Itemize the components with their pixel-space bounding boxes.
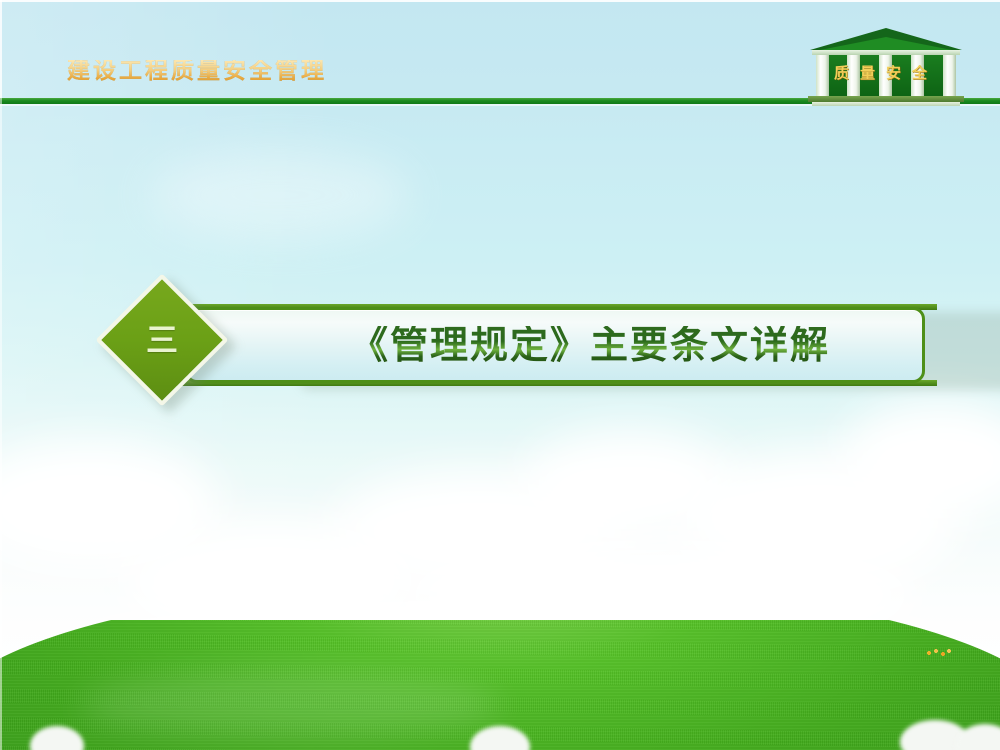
logo-text: 质量安全 <box>816 66 956 81</box>
logo-base-lower <box>812 102 960 106</box>
cloud-shape <box>150 150 410 240</box>
grass-hill <box>0 620 1000 750</box>
section-title-text-wrap: 《管理规定》主要条文详解 <box>185 307 925 383</box>
slide-left-edge <box>0 0 2 750</box>
page-title: 建设工程质量安全管理 <box>67 60 327 83</box>
grass-highlight <box>80 670 500 740</box>
section-title-text: 《管理规定》主要条文详解 <box>350 326 830 364</box>
quality-safety-temple-logo: 质量安全 <box>806 28 966 103</box>
logo-pediment-inner-icon <box>820 37 952 50</box>
slide-top-edge <box>0 0 1000 2</box>
section-title-banner: 《管理规定》主要条文详解 三 <box>105 288 935 398</box>
grass-flowers-icon <box>926 648 952 658</box>
slide-canvas: 建设工程质量安全管理 质量安全 《管理规定》主要条文详解 三 <box>0 0 1000 750</box>
